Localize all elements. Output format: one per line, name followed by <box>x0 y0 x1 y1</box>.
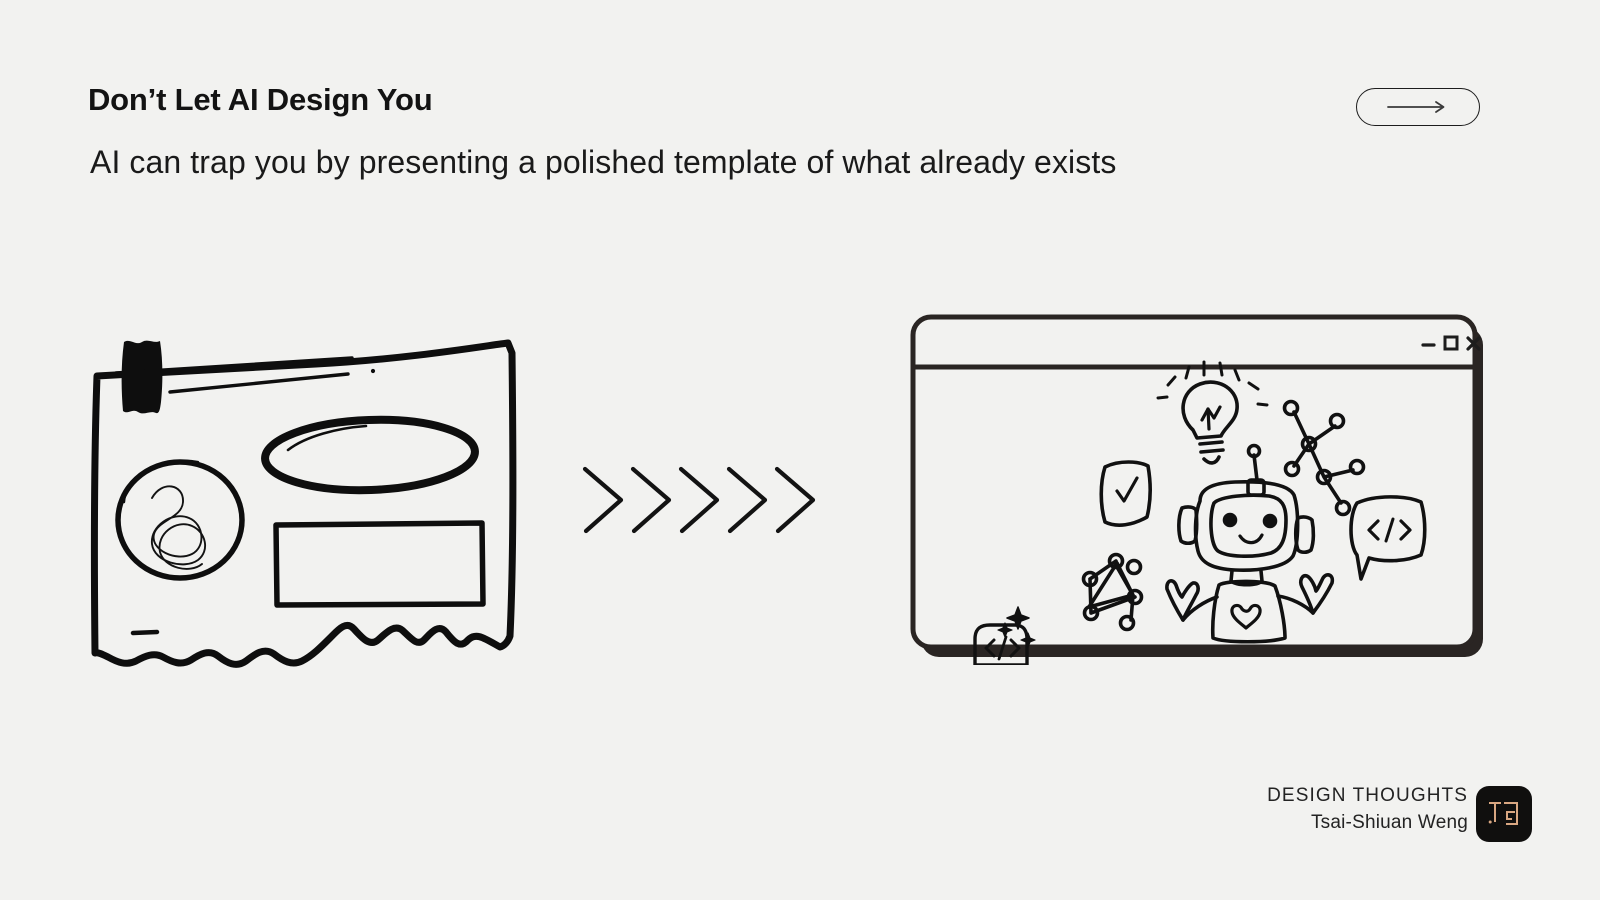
scribble-lines <box>152 486 205 569</box>
credit-author: Tsai-Shiuan Weng <box>1120 809 1468 837</box>
tape-strip <box>122 341 163 414</box>
chevron-arrows <box>575 455 840 545</box>
torn-paper-sketch <box>80 320 540 680</box>
chevron-5 <box>777 469 813 531</box>
credit-block: DESIGN THOUGHTS Tsai-Shiuan Weng <box>1120 783 1468 837</box>
chevron-3 <box>681 469 717 531</box>
arrow-right-icon <box>1386 100 1450 114</box>
page-subtitle: AI can trap you by presenting a polished… <box>90 144 1116 181</box>
author-logo-dot <box>1489 821 1492 824</box>
chevron-1 <box>585 469 621 531</box>
chevron-2 <box>633 469 669 531</box>
author-logo[interactable] <box>1476 786 1532 842</box>
browser-window-ai-robot <box>905 305 1495 665</box>
slide-root: Don’t Let AI Design You AI can trap you … <box>0 0 1600 900</box>
scribble-circle-outline <box>118 462 242 578</box>
credit-series: DESIGN THOUGHTS <box>1120 783 1468 809</box>
paper-bottom-dash <box>133 632 157 633</box>
chevron-4 <box>729 469 765 531</box>
next-button[interactable] <box>1356 88 1480 126</box>
paper-top-dot <box>371 369 375 373</box>
wireframe-rectangle <box>276 523 483 605</box>
author-logo-mark <box>1487 799 1521 829</box>
page-title: Don’t Let AI Design You <box>88 82 432 118</box>
wireframe-oval <box>264 416 476 493</box>
paper-top-detail-line-2 <box>170 374 348 392</box>
